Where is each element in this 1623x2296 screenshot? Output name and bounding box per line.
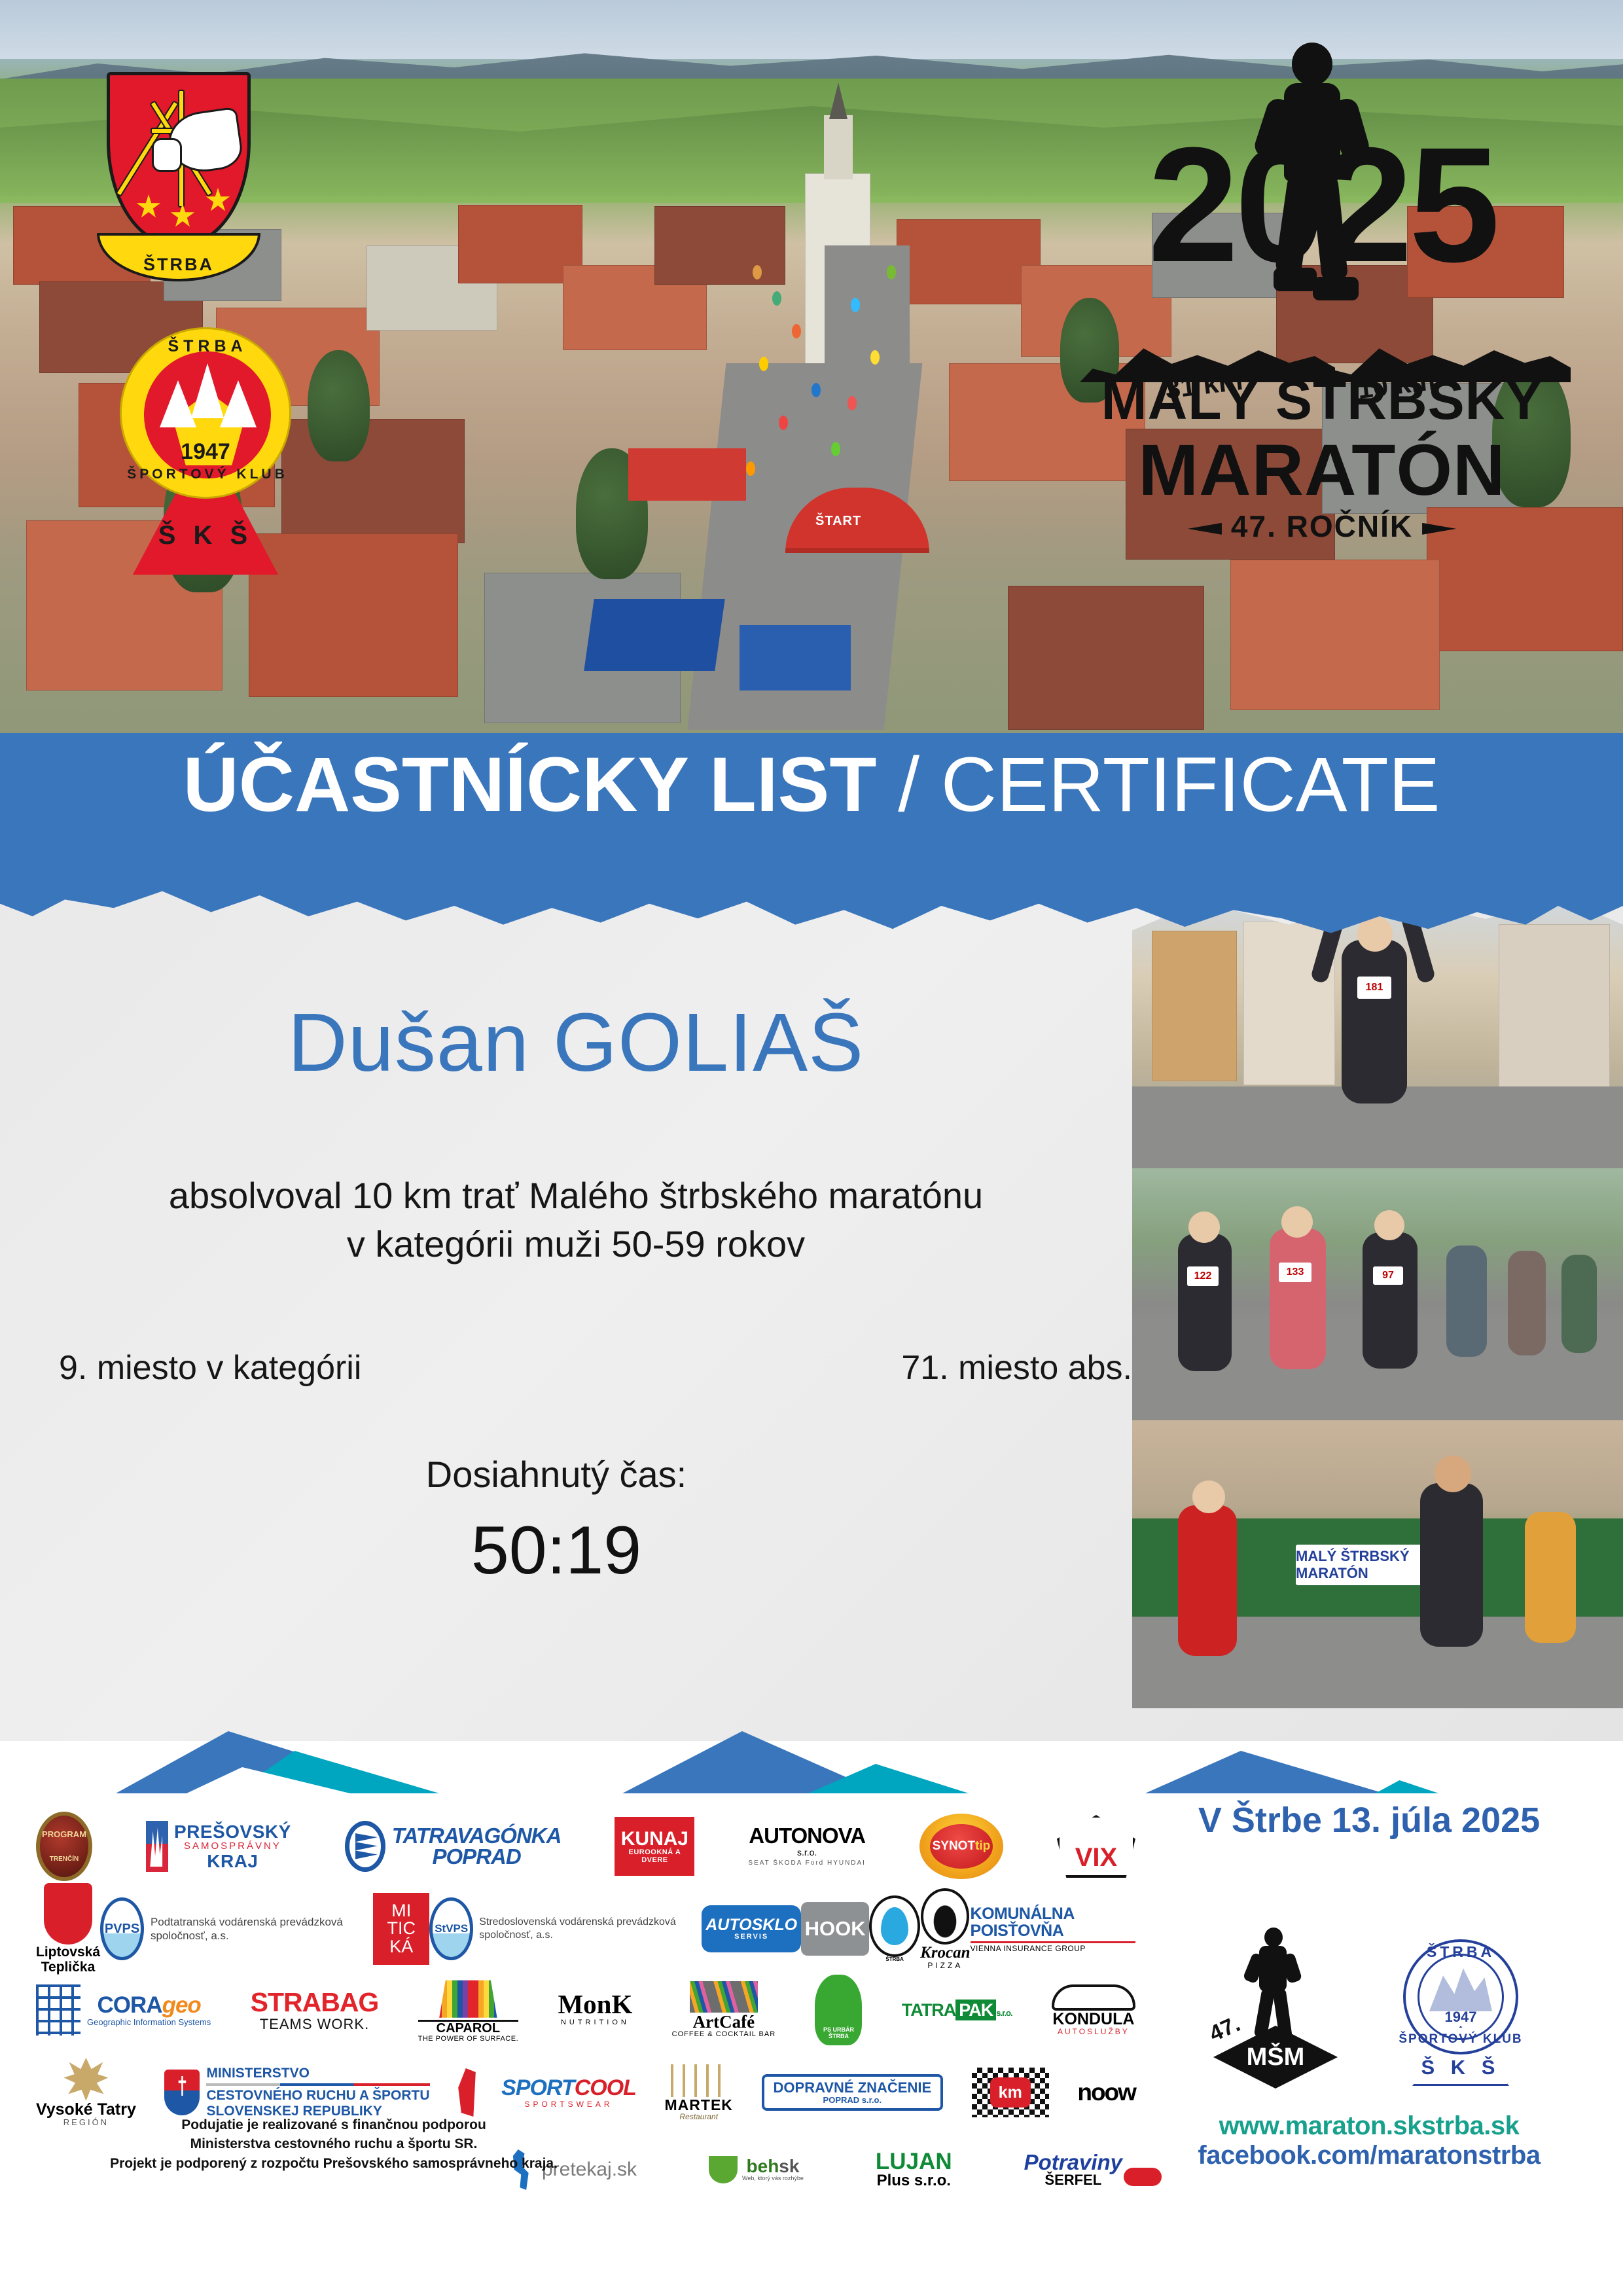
sponsor-sub: NUTRITION: [561, 2018, 630, 2026]
club-initials: Š K Š: [133, 521, 278, 550]
sponsor-sub: THE POWER OF SURFACE.: [418, 2036, 519, 2043]
footer-logos: 47. MŠM ŠTRBA 1947 ŠPORTOVÝ KLUB Š K Š: [1147, 1918, 1592, 2101]
sponsor-synottip: SYNOTtip: [919, 1814, 1003, 1879]
sponsor-hook: HOOK: [801, 1902, 869, 1956]
sponsor-label: Krocan: [920, 1945, 970, 1962]
sponsor-km: km: [972, 2068, 1049, 2117]
photo-finisher: 181: [1132, 890, 1623, 1178]
sponsor-mid: PAK: [955, 2000, 996, 2020]
sponsor-vix: VIX: [1057, 1815, 1135, 1878]
sponsor-autonova: AUTONOVA s.r.o. SEAT ŠKODA Ford HYUNDAI: [748, 1825, 866, 1868]
sponsor-artcafe: ArtCafé COFFEE & COCKTAIL BAR: [672, 1981, 776, 2039]
sponsor-polnohospodarske-druzstvo: ŠTRBA: [869, 1895, 920, 1962]
runner-silhouette-icon: [1257, 43, 1387, 344]
support-line-3: Projekt je podporený z rozpočtu Prešovsk…: [72, 2154, 596, 2173]
liptovska-shield-icon: [44, 1883, 92, 1945]
sponsor-label: MINISTERSTVO: [206, 2066, 310, 2081]
sponsor-brands: SEAT ŠKODA Ford HYUNDAI: [748, 1859, 866, 1867]
footer: PROGRAM TRENČÍN PREŠOVSKÝ SAMOSPRÁVNY KR…: [0, 1793, 1623, 2296]
race-title-line2: MARATÓN: [1073, 429, 1571, 512]
sponsor-label: HOOK: [801, 1902, 869, 1956]
sponsor-label: MonK: [558, 1992, 632, 2017]
beh-swoosh-icon: [709, 2156, 738, 2183]
sponsor-sub: SERVIS: [734, 1933, 768, 1941]
certificate-page: ŠTART: [0, 0, 1623, 2296]
title-bold-part: ÚČASTNÍCKY LIST: [183, 742, 877, 828]
hero-photo: ŠTART: [0, 0, 1623, 738]
sponsor-label: KUNAJ: [621, 1829, 688, 1850]
race-logo: 2025 31 km 10 km MALÝ ŠTRBSKÝ MARATÓN: [1073, 36, 1571, 566]
stamp-year: 1947: [1389, 2009, 1533, 2026]
sponsor-sub: VIENNA INSURANCE GROUP: [971, 1941, 1135, 1953]
msm-logo: 47. MŠM: [1205, 1928, 1343, 2091]
sponsor-label: KONDULA: [1052, 2011, 1135, 2028]
sponsor-label: CAPAROL: [418, 2020, 519, 2036]
sport-club-emblem: Š K Š 1947 ŠTRBA ŠPORTOVÝ KLUB: [108, 327, 304, 602]
sponsor-label: StVPS: [429, 1897, 473, 1960]
sponsor-program-trencin: PROGRAM TRENČÍN: [36, 1812, 92, 1881]
caparol-elephant-icon: [437, 1977, 499, 2018]
sponsor-sub: POPRAD: [392, 1846, 562, 1867]
page-title: ÚČASTNÍCKY LIST / CERTIFICATE: [0, 746, 1623, 823]
sponsor-dopravne-znacenie: DOPRAVNÉ ZNAČENIE POPRAD s.r.o.: [762, 2074, 944, 2111]
sponsor-beh-sk: behsk Web, ktorý vás rozhýbe: [709, 2156, 804, 2183]
sponsor-kunaj: KUNAJ EUROOKNÁ A DVERE: [615, 1817, 694, 1876]
sponsor-label: noow: [1077, 2080, 1135, 2106]
photo-collage: 181 122 133 97 MALÝ ŠTRBSKÝ MARATÓN: [1126, 890, 1623, 1728]
sponsor-label: PROGRAM: [42, 1830, 86, 1839]
sponsor-mid: CESTOVNÉHO RUCHU A ŠPORTU: [206, 2088, 429, 2103]
sponsor-label: PS URBÁR: [823, 2026, 854, 2033]
artcafe-stripes-icon: [690, 1981, 758, 2013]
website-link[interactable]: www.maraton.skstrba.sk: [1147, 2111, 1592, 2141]
club-year: 1947: [122, 439, 289, 465]
support-text: Podujatie je realizované s finančnou pod…: [72, 2115, 596, 2173]
athlete-name: Dušan GOLIAŠ: [0, 995, 1152, 1090]
sponsor-sub: Plus s.r.o.: [876, 2172, 952, 2189]
sponsor-sub: EUROOKNÁ A DVERE: [615, 1849, 694, 1864]
sponsor-mid: SAMOSPRÁVNY: [174, 1841, 291, 1852]
stamp-top-text: ŠTRBA: [1389, 1943, 1533, 1961]
sponsor-label: DOPRAVNÉ ZNAČENIE: [774, 2079, 932, 2096]
strba-coat-of-arms: ŠTRBA: [97, 72, 260, 281]
mountain-peaks-icon: [154, 363, 260, 442]
sponsor-krocan-pizza: Krocan PIZZA: [920, 1888, 970, 1970]
car-icon: [1052, 1984, 1135, 2011]
support-line-1: Podujatie je realizované s finančnou pod…: [72, 2115, 596, 2134]
sponsor-sub: TIC: [387, 1920, 416, 1938]
sponsor-label: KOMUNÁLNA POISŤOVŇA: [971, 1905, 1135, 1939]
sponsor-sub: SPORTSWEAR: [501, 2100, 636, 2109]
facebook-link[interactable]: facebook.com/maratonstrba: [1147, 2141, 1592, 2170]
edelweiss-icon: [63, 2058, 108, 2101]
time-label: Dosiahnutý čas:: [0, 1453, 1113, 1496]
sponsor-kondula: KONDULA AUTOSLUŽBY: [1052, 1984, 1135, 2036]
sponsor-sub: Restaurant: [665, 2113, 733, 2121]
title-light-part: / CERTIFICATE: [876, 742, 1440, 828]
bib-number: 97: [1373, 1266, 1403, 1285]
race-title-line1: MALÝ ŠTRBSKÝ: [1073, 368, 1571, 432]
sponsor-sportcool: SPORTCOOL SPORTSWEAR: [458, 2068, 636, 2117]
sponsor-sub: PIZZA: [920, 1962, 970, 1970]
sponsor-label: Liptovská: [36, 1945, 100, 1960]
sponsor-corageo: CORAgeo Geographic Information Systems: [36, 1984, 211, 2036]
tatravagonka-icon: [345, 1821, 385, 1872]
sponsor-label: PVPS: [100, 1897, 144, 1960]
bib-number: 133: [1279, 1263, 1311, 1282]
event-date: V Štrbe 13. júla 2025: [1147, 1800, 1592, 1840]
sponsor-autosklo-servis: AUTOSKLO SERVIS: [702, 1905, 801, 1952]
corageo-grid-icon: [36, 1984, 80, 2036]
sponsor-mid: sk: [779, 2156, 799, 2176]
sponsor-label: TATRA: [902, 2000, 955, 2020]
sponsor-sub: Stredoslovenská vodárenská prevádzková s…: [479, 1916, 702, 1942]
place-category: 9. miesto v kategórii: [59, 1348, 361, 1388]
sponsor-martek: MARTEK Restaurant: [665, 2064, 733, 2121]
place-absolute: 71. miesto abs.: [901, 1348, 1145, 1388]
sponsor-label: CORA: [98, 1992, 162, 2018]
start-arch-label: ŠTART: [815, 514, 861, 529]
presov-flame-icon: [146, 1821, 168, 1872]
sponsor-sub: s.r.o.: [996, 2008, 1012, 2018]
turkey-icon: [921, 1888, 969, 1945]
photo-runners-group: 122 133 97: [1132, 1168, 1623, 1430]
sponsor-sub: ŠERFEL: [1024, 2172, 1122, 2187]
sponsor-mid: geo: [162, 1992, 201, 2018]
sponsor-label: SYNOT: [933, 1840, 975, 1853]
sponsor-row-1: PROGRAM TRENČÍN PREŠOVSKÝ SAMOSPRÁVNY KR…: [36, 1806, 1135, 1886]
sponsor-strabag: STRABAG TEAMS WORK.: [251, 1988, 379, 2032]
sportcool-mark-icon: [458, 2068, 496, 2117]
stamp-middle-text: ŠPORTOVÝ KLUB: [1389, 2032, 1533, 2047]
msm-edition: 47.: [1205, 2011, 1244, 2047]
sponsor-sub: ŠTRBA: [885, 1957, 904, 1962]
sponsor-label: km: [990, 2077, 1031, 2108]
fist-icon: [152, 138, 182, 172]
support-line-2: Ministerstva cestovného ruchu a športu S…: [72, 2134, 596, 2153]
sponsor-sub: s.r.o.: [748, 1848, 866, 1857]
sponsor-liptovska-teplicka: Liptovská Teplička: [36, 1883, 100, 1975]
sponsor-label: MARTEK: [665, 2097, 733, 2113]
stamp-initials: Š K Š: [1389, 2056, 1533, 2079]
sponsor-ministerstvo: MINISTERSTVO CESTOVNÉHO RUCHU A ŠPORTU S…: [164, 2066, 429, 2119]
bib-number: 181: [1357, 977, 1391, 999]
coat-of-arms-banner: ŠTRBA: [97, 233, 260, 281]
sponsor-pvps: PVPS Podtatranská vodárenská prevádzková…: [100, 1897, 373, 1960]
sponsor-sub: KRAJ: [174, 1852, 291, 1871]
placement-row: 9. miesto v kategórii 71. miesto abs.: [59, 1348, 1145, 1388]
serfel-dots-icon: [1124, 2168, 1162, 2186]
photo-finish-line: MALÝ ŠTRBSKÝ MARATÓN: [1132, 1420, 1623, 1708]
sponsor-sub: Geographic Information Systems: [87, 2018, 211, 2027]
sponsor-sub: COFFEE & COCKTAIL BAR: [672, 2031, 776, 2039]
footer-right-column: V Štrbe 13. júla 2025 47. MŠM: [1147, 1800, 1592, 2170]
sponsor-tatrapak: TATRAPAKs.r.o.: [902, 2001, 1012, 2019]
sponsor-sub: POPRAD s.r.o.: [774, 2096, 932, 2105]
sponsor-label: LUJAN: [876, 2151, 952, 2173]
shield-icon: [107, 72, 251, 245]
sponsor-lujan: LUJAN Plus s.r.o.: [876, 2151, 952, 2189]
sponsor-label: AUTONOVA: [749, 1823, 865, 1848]
club-ring: 1947 ŠTRBA ŠPORTOVÝ KLUB: [120, 327, 291, 499]
sponsor-label: MI: [391, 1902, 411, 1920]
sponsor-label: SPORT: [501, 2075, 575, 2100]
sponsor-sub: tip: [975, 1840, 990, 1853]
tree-icon: PS URBÁRŠTRBA: [815, 1975, 862, 2045]
bib-number: 122: [1187, 1266, 1219, 1286]
coat-of-arms-label: ŠTRBA: [143, 255, 214, 275]
description-line-1: absolvoval 10 km trať Malého štrbského m…: [0, 1172, 1152, 1220]
sponsor-mid: COOL: [575, 2075, 636, 2100]
sponsor-label: TATRAVAGÓNKA: [392, 1825, 562, 1846]
sponsor-potraviny-serfel: Potraviny ŠERFEL: [1024, 2152, 1122, 2187]
sponsor-label: AUTOSKLO: [705, 1916, 797, 1934]
sponsor-sub: AUTOSLUŽBY: [1052, 2028, 1135, 2036]
club-bottom-text: ŠPORTOVÝ KLUB: [122, 467, 293, 482]
cutlery-icon: [671, 2064, 727, 2097]
slovak-coat-of-arms-icon: [164, 2070, 200, 2115]
club-top-text: ŠTRBA: [122, 337, 293, 356]
sponsor-tatravagonka: TATRAVAGÓNKA POPRAD: [345, 1821, 562, 1872]
sponsor-label: Potraviny: [1024, 2152, 1122, 2172]
sponsor-monk-nutrition: MonK NUTRITION: [558, 1992, 632, 2028]
sponsor-label: ArtCafé: [672, 2013, 776, 2031]
certificate-description: absolvoval 10 km trať Malého štrbského m…: [0, 1172, 1152, 1268]
race-edition: 47. ROČNÍK: [1073, 509, 1571, 544]
sponsor-ps-urban-strba: PS URBÁRŠTRBA: [815, 1975, 862, 2045]
sponsor-label: VIX: [1057, 1815, 1135, 1878]
sponsor-sub: TEAMS WORK.: [260, 2016, 369, 2032]
sponsor-presovsky-kraj: PREŠOVSKÝ SAMOSPRÁVNY KRAJ: [146, 1821, 291, 1872]
sponsor-sub: ŠTRBA: [829, 2033, 849, 2039]
sponsor-noow: noow: [1077, 2080, 1135, 2106]
description-line-2: v kategórii muži 50-59 rokov: [0, 1220, 1152, 1268]
sponsor-sub: Web, ktorý vás rozhýbe: [742, 2176, 804, 2181]
sponsor-stvps: StVPS Stredoslovenská vodárenská prevádz…: [429, 1897, 702, 1960]
sponsor-label: beh: [747, 2156, 779, 2176]
sponsor-caparol: CAPAROL THE POWER OF SURFACE.: [418, 1977, 519, 2043]
sponsor-extra: KÁ: [389, 1938, 413, 1956]
sponsor-sub: TRENČÍN: [50, 1856, 79, 1863]
sponsor-label: PREŠOVSKÝ: [174, 1822, 291, 1841]
time-value: 50:19: [0, 1512, 1113, 1590]
sks-stamp-logo: ŠTRBA 1947 ŠPORTOVÝ KLUB Š K Š: [1389, 1928, 1533, 2091]
sponsor-miticka: MI TIC KÁ: [373, 1893, 429, 1965]
water-drop-icon: [869, 1895, 920, 1957]
sponsor-label: STRABAG: [251, 1988, 379, 2017]
sponsor-komunalna-poistovna: KOMUNÁLNA POISŤOVŇA VIENNA INSURANCE GRO…: [971, 1905, 1135, 1953]
sponsor-sub: Podtatranská vodárenská prevádzková spol…: [151, 1915, 373, 1943]
sponsor-row-2: Liptovská Teplička PVPS Podtatranská vod…: [36, 1890, 1135, 1967]
sponsor-row-3: CORAgeo Geographic Information Systems S…: [36, 1971, 1135, 2049]
